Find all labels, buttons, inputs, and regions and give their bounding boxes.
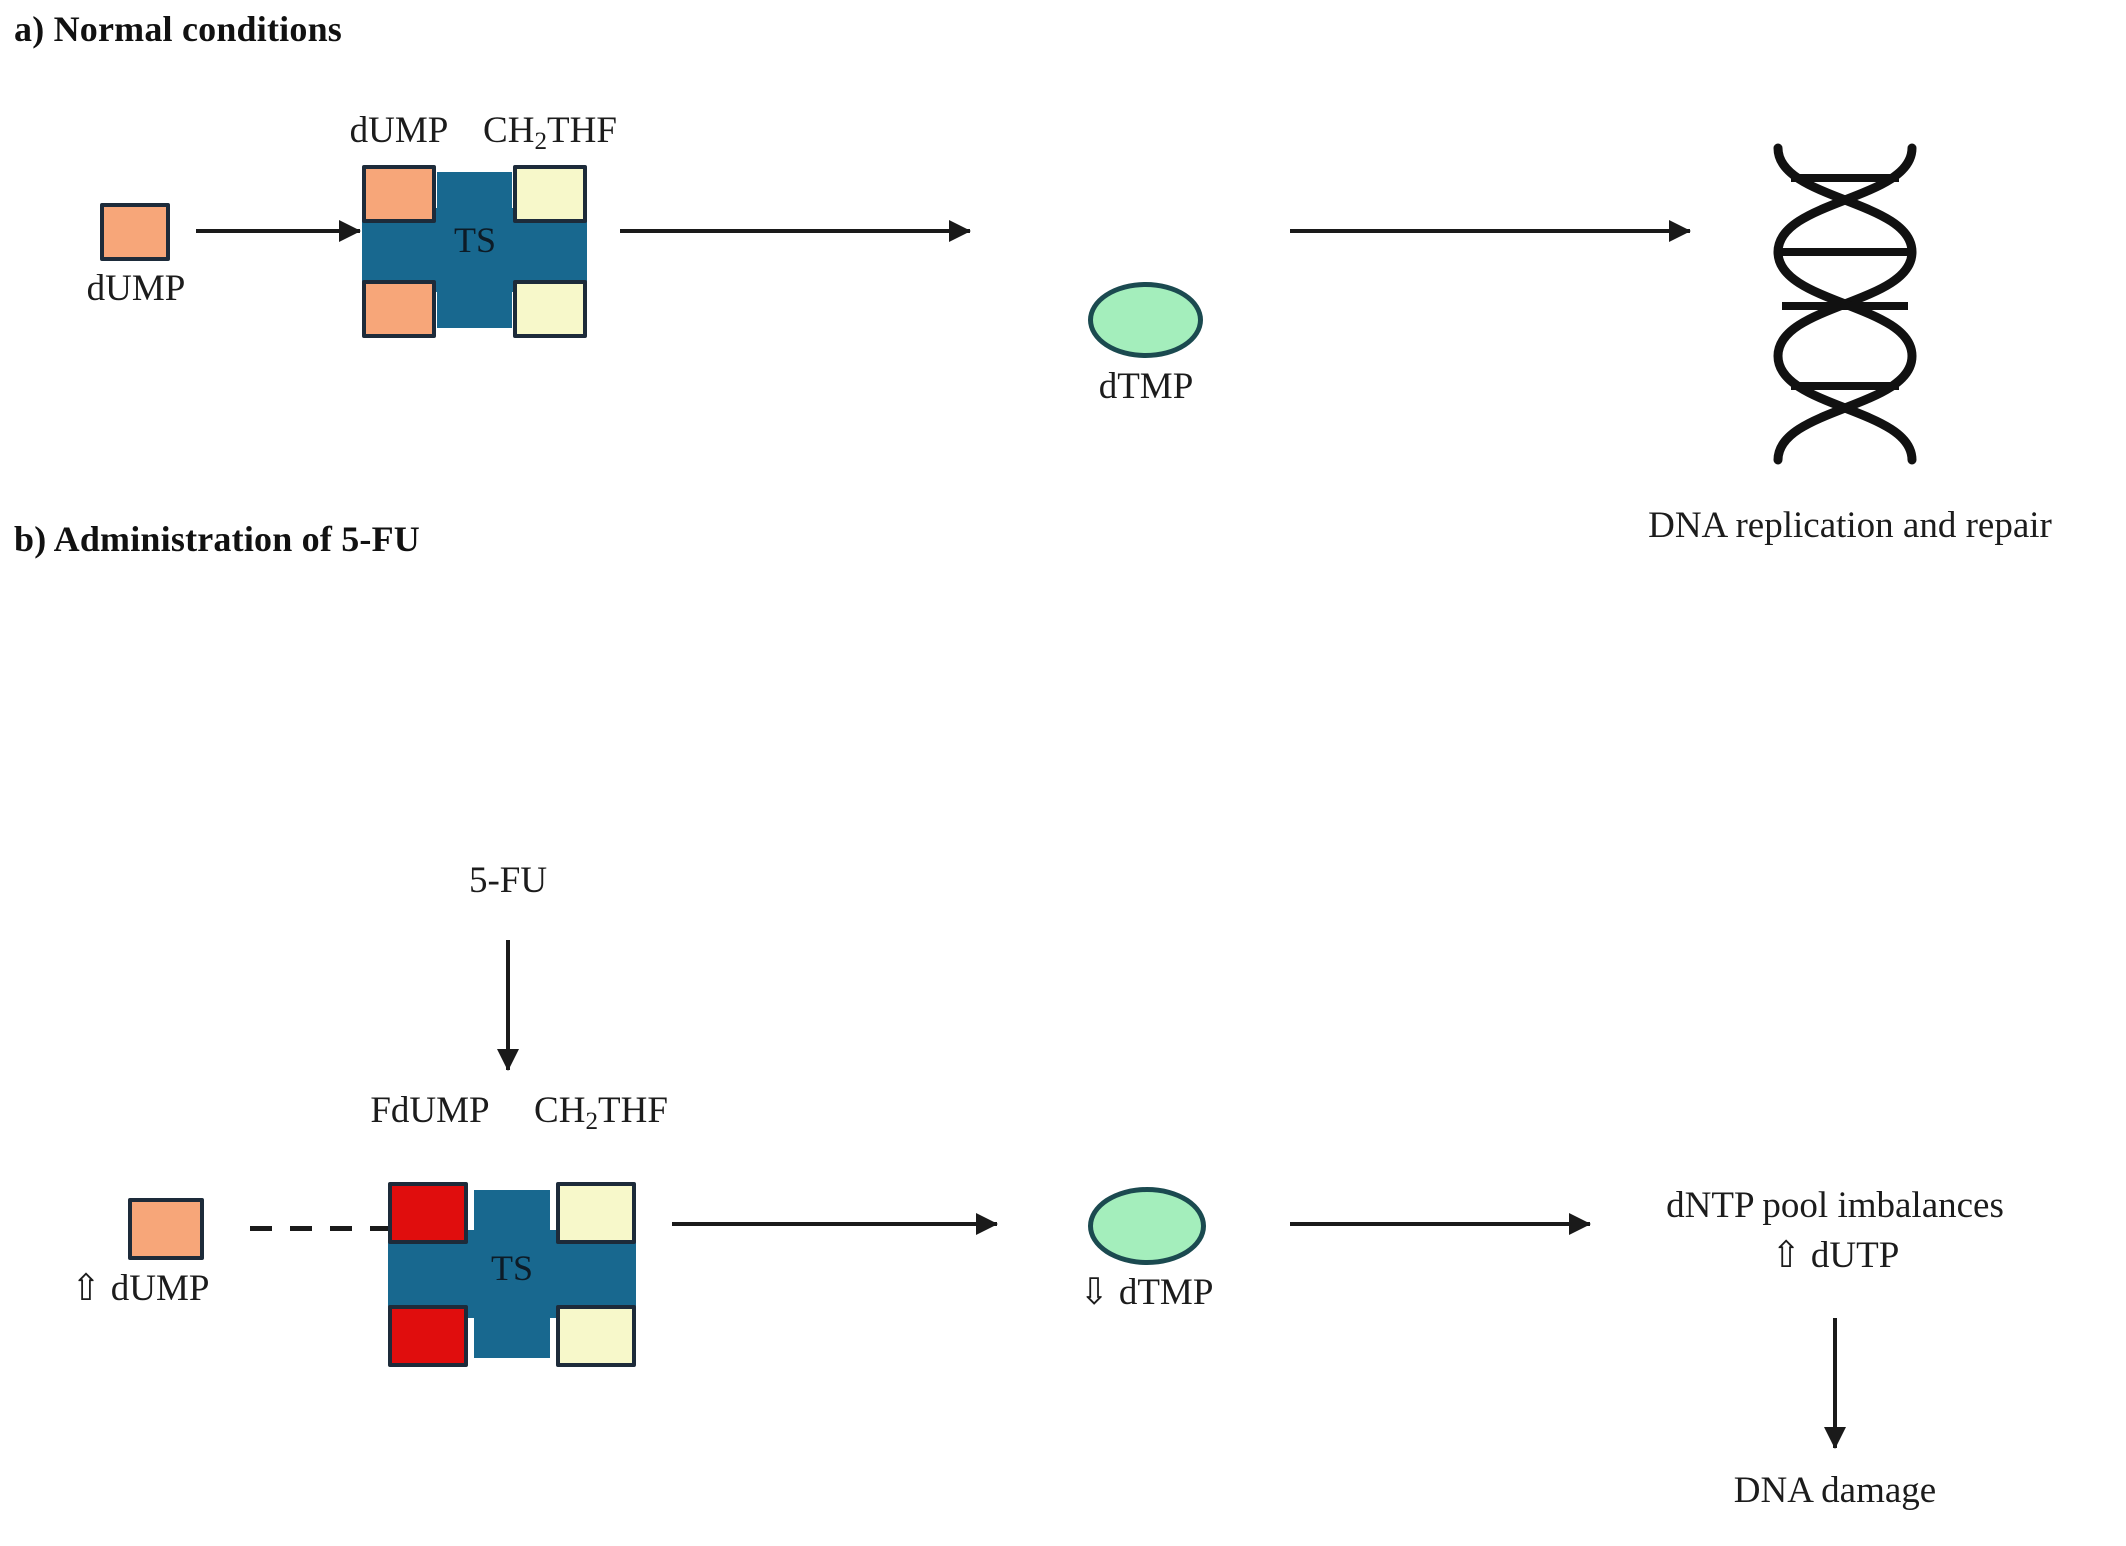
ts-bound-fdump-bottom-b [388,1305,468,1367]
dtmp-ellipse-a [1088,282,1203,358]
ts-enzyme-label-a: TS [454,219,496,261]
dtmp-ellipse-b [1088,1187,1206,1265]
arrow-5fu-to-fdump [497,940,519,1070]
dna-damage-label: DNA damage [1734,1470,1936,1513]
ts-thf-label-b: CH2THF [534,1090,668,1137]
dna-outcome-label-a: DNA replication and repair [1648,505,2052,548]
fdump-label-b: FdUMP [370,1090,489,1133]
panel-b-title: b) Administration of 5-FU [14,518,420,560]
ts-dump-label-a: dUMP [350,110,449,153]
ts-bound-thf-bottom-a [513,280,587,338]
ts-bound-thf-bottom-b [556,1305,636,1367]
ts-thf-label-a: CH2THF [483,110,617,157]
arrow-dtmp-to-dna-a [1290,220,1690,242]
ts-bound-dump-top-a [362,165,436,223]
panel-a-title: a) Normal conditions [14,8,342,50]
dump-substrate-box-b [128,1198,204,1260]
ts-bound-fdump-top-b [388,1182,468,1244]
ts-bound-dump-bottom-a [362,280,436,338]
arrow-dtmp-to-pool-b [1290,1213,1590,1235]
dntp-pool-label: dNTP pool imbalances [1666,1185,2004,1228]
ts-bound-thf-top-a [513,165,587,223]
dump-substrate-label-a: dUMP [87,268,186,311]
dtmp-label-a: dTMP [1099,366,1194,409]
arrow-dump-to-ts-a [196,220,360,242]
dna-helix-icon [1760,140,1930,470]
arrow-ts-to-dtmp-b [672,1213,997,1235]
5fu-label: 5-FU [469,860,547,903]
dutp-label: ⇧ dUTP [1771,1235,1900,1278]
dump-substrate-box-a [100,203,170,261]
ts-enzyme-label-b: TS [491,1247,533,1289]
arrow-ts-to-dtmp-a [620,220,970,242]
dump-substrate-label-b: ⇧ dUMP [71,1268,210,1311]
dtmp-label-b: ⇩ dTMP [1079,1272,1214,1315]
ts-bound-thf-top-b [556,1182,636,1244]
arrow-pool-to-damage [1824,1318,1846,1448]
